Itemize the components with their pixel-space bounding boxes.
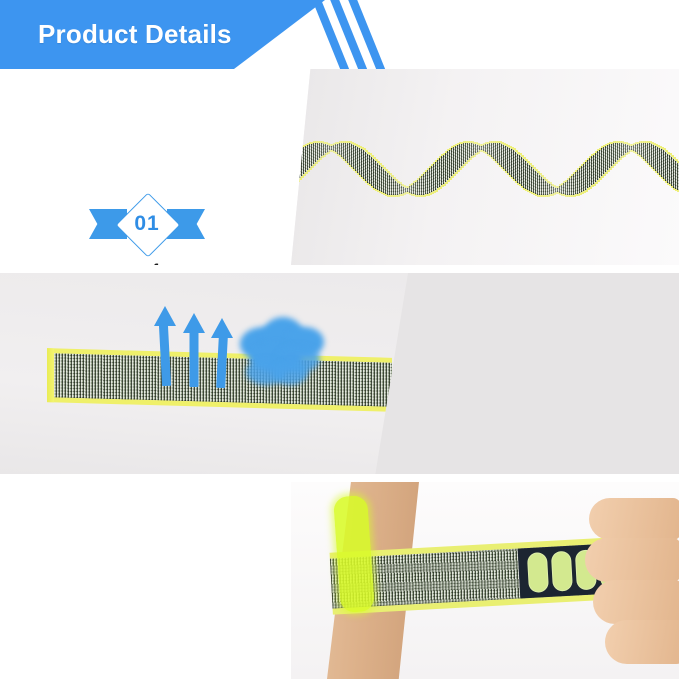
feature-label: soft — [87, 261, 207, 265]
breathable-strap-diagram — [0, 273, 408, 474]
product-details-infographic: Product Details 01 soft — [0, 0, 679, 679]
strap-end-cap — [47, 348, 54, 402]
header-banner: Product Details — [0, 0, 679, 69]
velcro-pill — [551, 551, 573, 592]
page-title: Product Details — [38, 0, 232, 69]
hand-pulling-strap — [583, 488, 679, 673]
feature-row-soft: 01 soft — [0, 69, 679, 265]
finger-3 — [593, 580, 679, 624]
feature-number: 01 — [89, 209, 205, 239]
twisted-strap-graphic — [293, 121, 679, 213]
feature-row-breathable: 02 breathable — [0, 273, 679, 474]
wrist-velcro-photo — [291, 482, 679, 679]
finger-1 — [589, 498, 679, 540]
feature-row-velcro: 03 adjustable velcro — [0, 482, 679, 679]
feature-badge-01: 01 soft — [87, 193, 207, 265]
twisted-woven-strap-photo — [291, 69, 679, 265]
cloud-puff — [272, 361, 308, 385]
finger-4 — [605, 620, 679, 664]
velcro-pill — [527, 552, 549, 593]
diamond-ribbon-badge-icon: 01 — [89, 193, 205, 255]
finger-2 — [585, 538, 679, 582]
